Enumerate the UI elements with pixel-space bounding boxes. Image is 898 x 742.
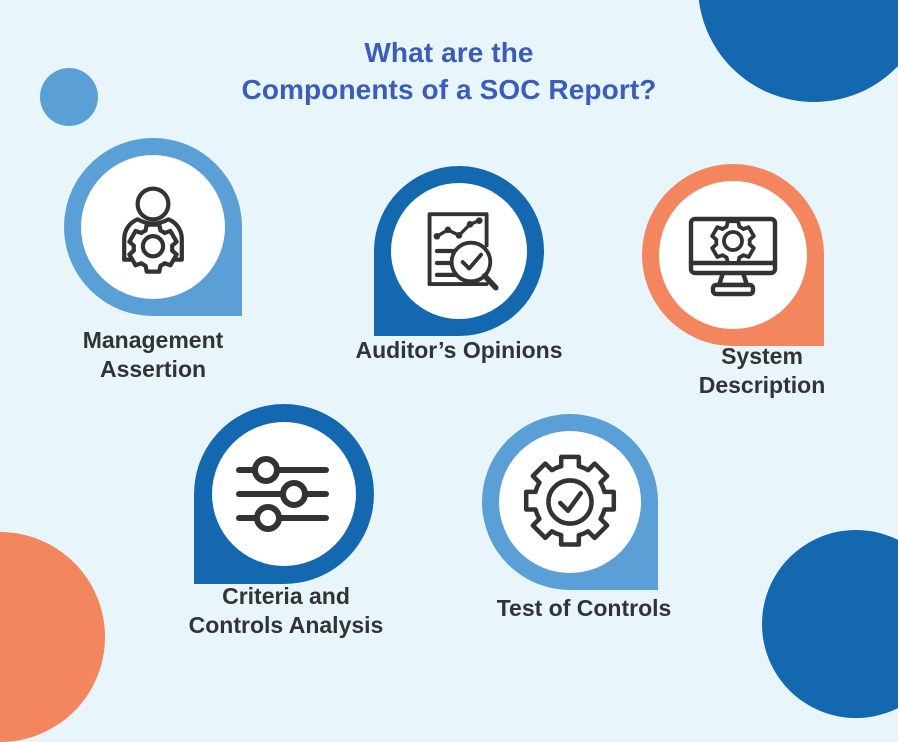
pin-badge-test-of-controls [482,414,658,590]
pin-inner-circle [81,155,225,299]
pin-badge-auditors-opinions [374,166,544,336]
label-test-of-controls: Test of Controls [452,594,716,623]
pin-badge-management-assertion [64,138,242,316]
page-title: What are the Components of a SOC Report? [0,34,898,108]
page-title-line-1: What are the [0,34,898,71]
pin-inner-circle [391,183,527,319]
decorative-circle-bottom-right [762,530,898,718]
monitor-gear-icon [683,205,783,305]
label-system-description: System Description [628,342,896,401]
pin-badge-system-description [642,164,824,346]
decorative-circle-bottom-left [0,532,105,742]
gear-check-icon [521,453,619,551]
pin-badge-criteria-and-controls-analysis [194,404,374,584]
sliders-settings-icon [234,444,334,544]
component-system-description[interactable] [642,164,824,346]
component-management-assertion[interactable] [64,138,242,316]
pin-inner-circle [212,422,356,566]
page-title-line-2: Components of a SOC Report? [0,71,898,108]
pin-inner-circle [659,181,807,329]
label-criteria-and-controls-analysis: Criteria and Controls Analysis [136,582,436,641]
component-criteria-and-controls-analysis[interactable] [194,404,374,584]
component-auditors-opinions[interactable] [374,166,544,336]
pin-inner-circle [499,431,641,573]
label-auditors-opinions: Auditor’s Opinions [310,336,608,365]
person-gear-icon [105,179,201,275]
document-chart-magnifier-check-icon [413,205,505,297]
component-test-of-controls[interactable] [482,414,658,590]
label-management-assertion: Management Assertion [24,326,282,385]
